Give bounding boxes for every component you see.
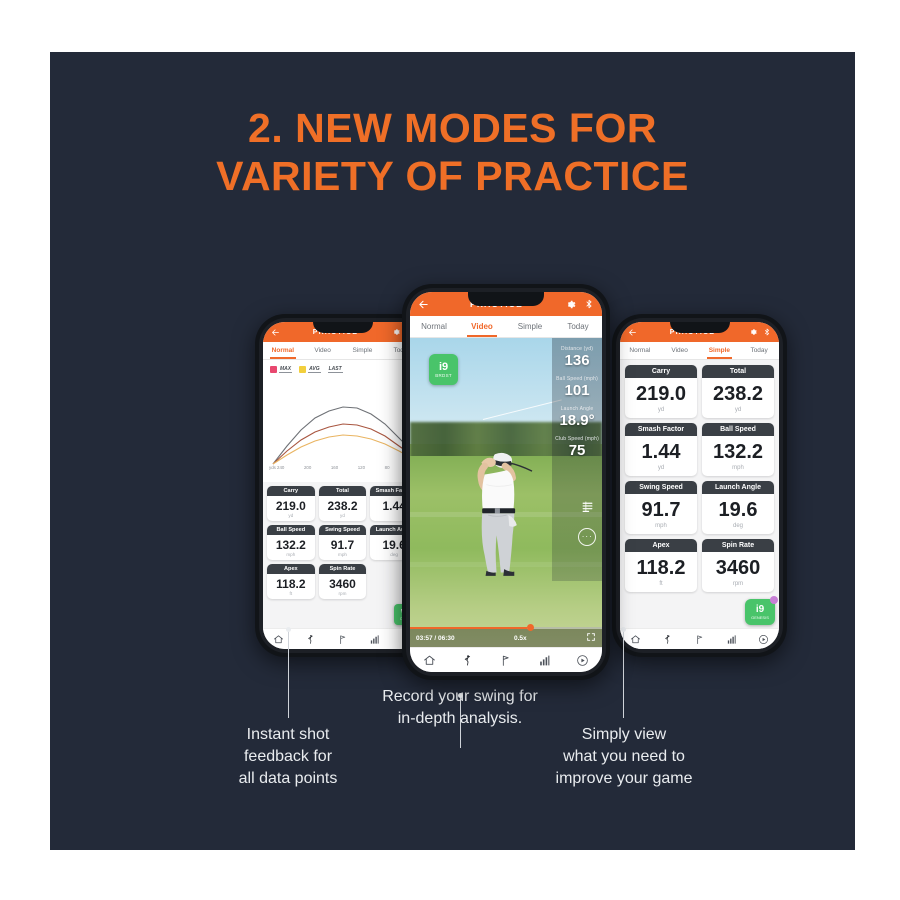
readout-value: 18.9° [552,412,602,429]
tab-simple[interactable]: Simple [343,342,383,359]
trajectory-curves [267,386,422,466]
leader-dot [621,627,626,632]
metric-label: Smash Factor [625,423,697,436]
legend-last-label: LAST [328,366,343,373]
metric-value: 132.2 [267,535,315,552]
metric-label: Swing Speed [319,525,367,535]
notch [468,292,544,306]
legend-avg-label: AVG [308,366,320,373]
phone-left-screen: PRACTICE Normal Video Simple Today [263,322,422,649]
metric-value: 132.2 [702,436,774,465]
chart-x-axis: yds 240 200 160 120 80 40 [269,465,414,470]
page-title: 2. NEW MODES FOR VARIETY OF PRACTICE [50,104,855,200]
metric-value: 3460 [702,552,774,581]
metric-value: 118.2 [267,574,315,591]
phone-right: PRACTICE Normal Video Simple Today [612,314,787,657]
title-line-1: 2. NEW MODES FOR [248,105,657,151]
golfer-icon[interactable] [461,654,474,667]
metric-unit: ft [267,591,315,599]
tab-video[interactable]: Video [458,316,506,337]
progress-fill [410,627,527,629]
metric-value: 19.6 [702,494,774,523]
metric-card[interactable]: Spin Rate 3460 rpm [319,564,367,599]
flag-icon[interactable] [337,634,348,645]
metric-unit: rpm [702,581,774,592]
metric-label: Spin Rate [702,539,774,552]
ball-badge-line1: i9 [439,361,448,373]
x-tick-3: 120 [358,465,365,470]
ball-badge-line2: GENESIS [751,615,769,620]
bar-chart-icon[interactable] [538,654,551,667]
video-speed[interactable]: 0.5x [514,635,527,642]
readout-value: 101 [552,382,602,399]
metric-unit: yd [702,407,774,418]
metric-unit: mph [625,523,697,534]
bluetooth-icon[interactable] [584,298,594,310]
metric-value: 1.44 [625,436,697,465]
ball-badge-line2: BRDST [435,373,452,378]
metric-label: Spin Rate [319,564,367,574]
tab-today[interactable]: Today [739,342,779,359]
mode-tabs[interactable]: Normal Video Simple Today [263,342,422,360]
readout-club-speed: Club Speed (mph) 75 [552,436,602,459]
leader-line-right [623,630,624,718]
metric-value: 219.0 [267,496,315,513]
metric-unit: mph [702,465,774,476]
mode-tabs[interactable]: Normal Video Simple Today [620,342,779,360]
gear-icon[interactable] [564,298,577,311]
metric-unit: yd [625,465,697,476]
flag-icon[interactable] [499,654,512,667]
play-circle-icon[interactable] [576,654,589,667]
legend-max-label: MAX [279,366,292,373]
chart-legend: MAX AVG LAST [263,360,422,373]
metric-label: Apex [625,539,697,552]
tab-simple[interactable]: Simple [506,316,554,337]
metric-card[interactable]: Total 238.2 yd [319,486,367,521]
phone-center: PRACTICE Normal Video Simple Today [402,284,610,680]
notch [313,322,373,333]
readout-launch-angle: Launch Angle 18.9° [552,406,602,429]
title-line-2: VARIETY OF PRACTICE [50,152,855,200]
leader-dot [286,627,291,632]
trajectory-chart: MAX AVG LAST [263,360,422,482]
series-last [273,435,419,464]
readout-distance: Distance (yd) 136 [552,346,602,369]
metric-label: Apex [267,564,315,574]
tab-today[interactable]: Today [554,316,602,337]
video-side-controls[interactable]: ··· [578,500,596,546]
more-dots-icon[interactable]: ··· [578,528,596,546]
metric-unit: deg [702,523,774,534]
golfer-icon[interactable] [662,634,673,645]
tab-normal[interactable]: Normal [410,316,458,337]
metric-unit: ft [625,581,697,592]
metric-card[interactable]: Swing Speed 91.7 mph [625,481,697,534]
caption-right: Simply view what you need to improve you… [524,724,724,790]
series-avg [273,424,419,464]
metric-card[interactable]: Ball Speed 132.2 mph [702,423,774,476]
x-tick-2: 160 [331,465,338,470]
dark-panel: 2. NEW MODES FOR VARIETY OF PRACTICE PRA… [50,52,855,850]
metric-card[interactable]: Smash Factor 1.44 yd [625,423,697,476]
home-icon[interactable] [273,634,284,645]
readout-value: 136 [552,352,602,369]
tab-video[interactable]: Video [303,342,343,359]
metric-value: 238.2 [702,378,774,407]
metric-unit: mph [267,552,315,560]
progress-knob[interactable] [527,624,534,631]
notch [670,322,730,333]
back-arrow-icon[interactable] [271,328,280,337]
x-tick-4: 80 [385,465,390,470]
ball-badge-line1: i9 [756,604,764,615]
tab-simple[interactable]: Simple [700,342,740,359]
metric-card[interactable]: Apex 118.2 ft [267,564,315,599]
bluetooth-icon[interactable] [763,327,771,337]
notification-dot [770,596,778,604]
metric-value: 118.2 [625,552,697,581]
tab-normal[interactable]: Normal [620,342,660,359]
gear-icon[interactable] [748,327,758,337]
back-arrow-icon[interactable] [418,299,429,310]
bottom-nav[interactable] [410,647,602,672]
legend-avg[interactable]: AVG [299,366,320,373]
x-tick-1: 200 [304,465,311,470]
readout-value: 75 [552,442,602,459]
leader-line-left [288,630,289,718]
metric-card[interactable]: Launch Angle 19.6 deg [702,481,774,534]
fullscreen-icon[interactable] [586,632,596,644]
metric-label: Total [702,365,774,378]
gear-icon[interactable] [391,327,401,337]
metric-card[interactable]: Ball Speed 132.2 mph [267,525,315,560]
metric-value: 219.0 [625,378,697,407]
video-scrubber[interactable]: 03:57 / 06:30 0.5x [410,627,602,649]
bar-chart-icon[interactable] [726,634,737,645]
metric-value: 91.7 [319,535,367,552]
slide-root: 2. NEW MODES FOR VARIETY OF PRACTICE PRA… [0,0,900,900]
play-circle-icon[interactable] [758,634,769,645]
home-icon[interactable] [423,654,436,667]
metric-label: Carry [267,486,315,496]
metric-cards: Carry 219.0 yd Total 238.2 yd Smash Fact… [620,360,779,630]
metric-label: Ball Speed [267,525,315,535]
ball-badge[interactable]: i9 BRDST [429,354,458,385]
bar-chart-icon[interactable] [369,634,380,645]
metric-card[interactable]: Carry 219.0 yd [267,486,315,521]
metric-card[interactable]: Apex 118.2 ft [625,539,697,592]
metric-unit: yd [625,407,697,418]
tab-video[interactable]: Video [660,342,700,359]
mode-tabs[interactable]: Normal Video Simple Today [410,316,602,338]
metric-card[interactable]: Swing Speed 91.7 mph [319,525,367,560]
metric-label: Swing Speed [625,481,697,494]
legend-last[interactable]: LAST [328,366,343,373]
metric-unit: mph [319,552,367,560]
metric-card[interactable]: Spin Rate 3460 rpm [702,539,774,592]
golfer-image [456,413,540,612]
metric-unit: rpm [319,591,367,599]
metric-label: Launch Angle [702,481,774,494]
video-time: 03:57 / 06:30 [416,635,455,642]
home-icon[interactable] [630,634,641,645]
tab-normal[interactable]: Normal [263,342,303,359]
phone-center-screen: PRACTICE Normal Video Simple Today [410,292,602,672]
metric-label: Carry [625,365,697,378]
metric-label: Total [319,486,367,496]
x-tick-0: yds 240 [269,465,284,470]
metric-unit: yd [319,513,367,521]
bottom-nav[interactable] [620,628,779,649]
golfer-icon[interactable] [305,634,316,645]
ball-badge[interactable]: i9 GENESIS [745,599,775,625]
swing-video[interactable]: i9 BRDST Distance (yd) 136 Ball Speed (m… [410,338,602,649]
metric-unit: yd [267,513,315,521]
list-lines-icon[interactable] [581,500,594,518]
metric-label: Ball Speed [702,423,774,436]
metric-value: 91.7 [625,494,697,523]
progress-bar[interactable] [410,627,602,629]
metric-value: 238.2 [319,496,367,513]
phone-right-screen: PRACTICE Normal Video Simple Today [620,322,779,649]
flag-icon[interactable] [694,634,705,645]
legend-max[interactable]: MAX [270,366,292,373]
metric-card[interactable]: Carry 219.0 yd [625,365,697,418]
metric-card[interactable]: Total 238.2 yd [702,365,774,418]
metric-value: 3460 [319,574,367,591]
readout-ball-speed: Ball Speed (mph) 101 [552,376,602,399]
back-arrow-icon[interactable] [628,328,637,337]
caption-left: Instant shot feedback for all data point… [188,724,388,790]
